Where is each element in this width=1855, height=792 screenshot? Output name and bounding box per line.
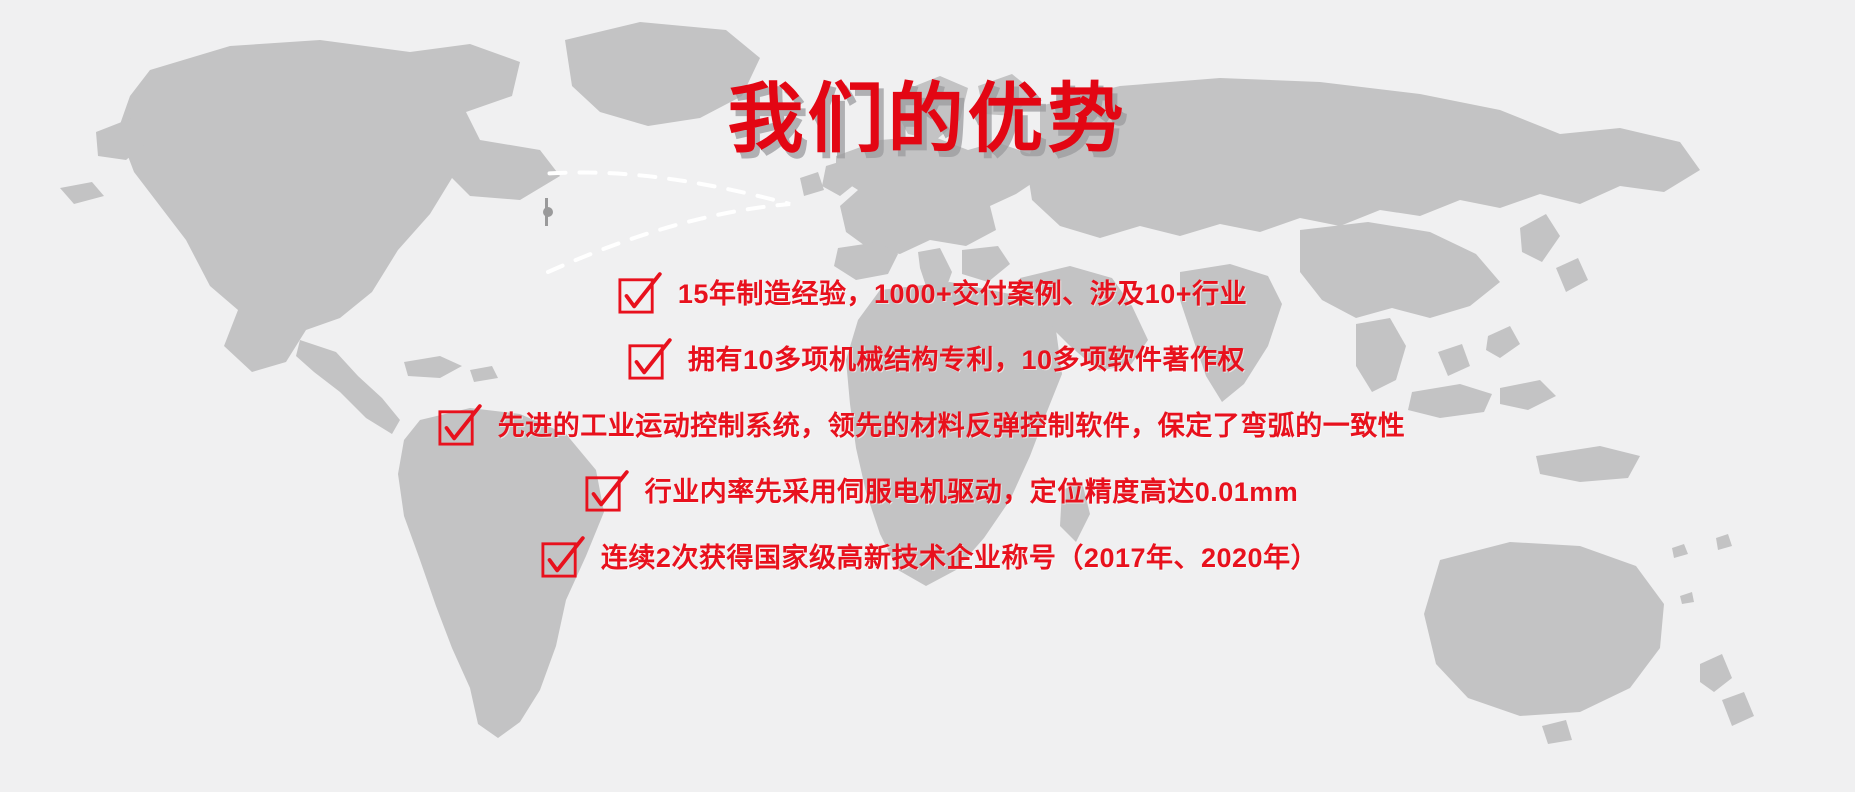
checkbox-checked-icon <box>585 474 623 512</box>
list-item: 拥有10多项机械结构专利，10多项软件著作权 <box>18 328 1855 394</box>
advantage-text: 连续2次获得国家级高新技术企业称号（2017年、2020年） <box>601 544 1318 574</box>
advantage-text: 先进的工业运动控制系统，领先的材料反弹控制软件，保定了弯弧的一致性 <box>498 412 1406 442</box>
advantage-text: 15年制造经验，1000+交付案例、涉及10+行业 <box>678 280 1247 310</box>
checkbox-checked-icon <box>541 540 579 578</box>
page-title: 我们的优势 <box>0 82 1855 158</box>
advantage-list: 15年制造经验，1000+交付案例、涉及10+行业 拥有10多项机械结构专利，1… <box>0 262 1855 592</box>
list-item: 先进的工业运动控制系统，领先的材料反弹控制软件，保定了弯弧的一致性 <box>0 394 1855 460</box>
list-item: 行业内率先采用伺服电机驱动，定位精度高达0.01mm <box>28 460 1855 526</box>
advantages-banner: 我们的优势 15年制造经验，1000+交付案例、涉及10+行业 <box>0 0 1855 792</box>
banner-content: 我们的优势 15年制造经验，1000+交付案例、涉及10+行业 <box>0 0 1855 792</box>
checkbox-checked-icon <box>438 408 476 446</box>
checkbox-checked-icon <box>628 342 666 380</box>
list-item: 15年制造经验，1000+交付案例、涉及10+行业 <box>10 262 1855 328</box>
list-item: 连续2次获得国家级高新技术企业称号（2017年、2020年） <box>4 526 1855 592</box>
checkbox-checked-icon <box>618 276 656 314</box>
advantage-text: 行业内率先采用伺服电机驱动，定位精度高达0.01mm <box>645 478 1299 508</box>
advantage-text: 拥有10多项机械结构专利，10多项软件著作权 <box>688 346 1245 376</box>
